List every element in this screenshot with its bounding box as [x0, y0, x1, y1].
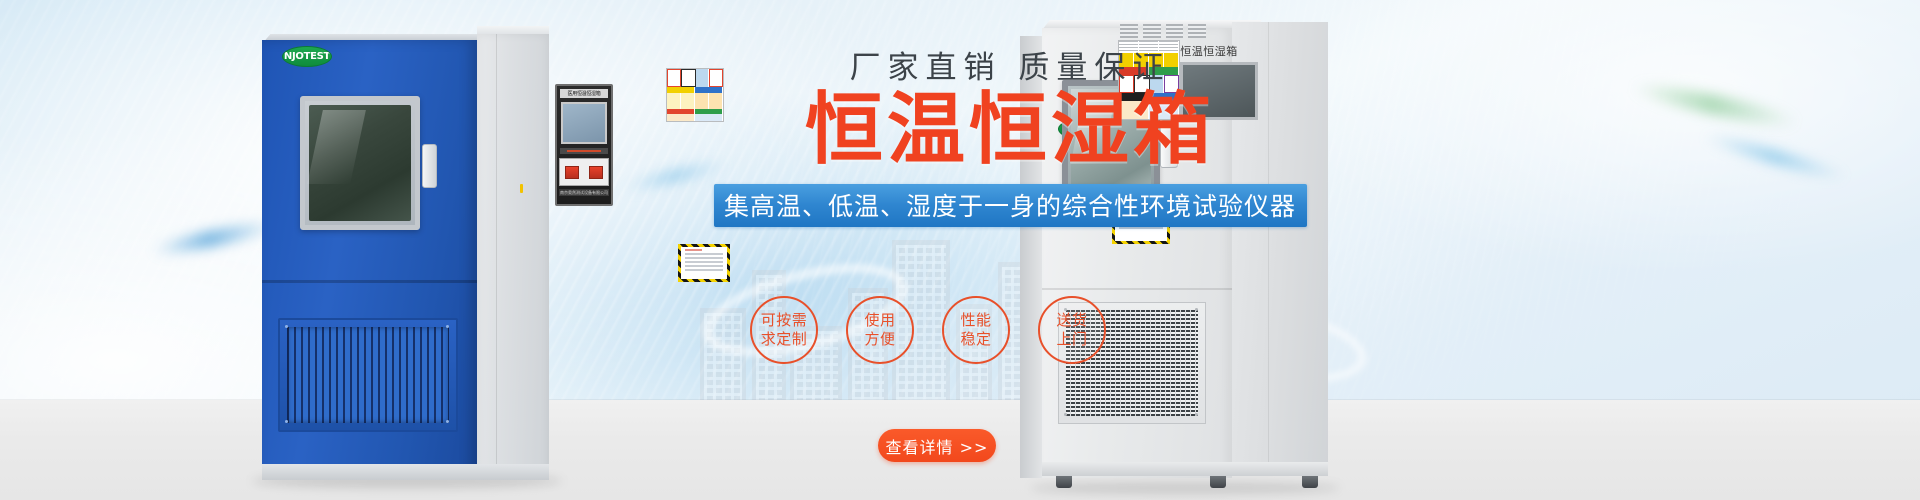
display-strip [560, 148, 608, 154]
leveling-foot [1302, 476, 1318, 488]
control-panel-footer: 南京奥然测试设备有限公司 [559, 189, 609, 196]
badge-line2: 方便 [864, 330, 895, 349]
control-buttons[interactable] [559, 158, 609, 186]
badge-custom: 可按需 求定制 [750, 296, 818, 364]
badge-line2: 上门 [1056, 330, 1087, 349]
door-handle[interactable] [422, 144, 437, 188]
cabinet-base [262, 464, 549, 480]
control-button-power[interactable] [589, 166, 603, 179]
badge-line1: 送货 [1056, 311, 1087, 330]
badge-line1: 可按需 [761, 311, 808, 330]
side-indicator [520, 184, 523, 193]
njotest-logo: NJOTEST [282, 46, 332, 67]
top-vent-slots [1120, 24, 1206, 38]
ventilation-grille [278, 318, 458, 432]
badge-stable-performance: 性能 稳定 [942, 296, 1010, 364]
left-chamber-blue: NJOTEST 医用恒温恒湿箱 南京奥然测试设备有限公司 [262, 34, 572, 480]
page-title: 恒温恒湿箱 [700, 91, 1320, 171]
leveling-foot [1056, 476, 1072, 488]
product-banner: NJOTEST 医用恒温恒湿箱 南京奥然测试设备有限公司 [0, 0, 1920, 500]
window-glass [309, 105, 411, 221]
badge-easy-use: 使用 方便 [846, 296, 914, 364]
leveling-foot [1210, 476, 1226, 488]
subtitle-text: 集高温、低温、湿度于一身的综合性环境试验仪器 [724, 187, 1296, 223]
control-panel-title: 医用恒温恒湿箱 [560, 89, 608, 98]
panel-seam [262, 280, 477, 283]
panel-seam [1042, 288, 1232, 290]
control-panel[interactable]: 医用恒温恒湿箱 南京奥然测试设备有限公司 [555, 84, 613, 206]
chamber-window [300, 96, 420, 230]
eyebrow-text: 厂家直销 质量保证 [700, 42, 1320, 87]
badge-line1: 性能 [960, 311, 991, 330]
control-button-heat[interactable] [565, 166, 579, 179]
copy-block: 厂家直销 质量保证 恒温恒湿箱 集高温、低温、湿度于一身的综合性环境试验仪器 [700, 42, 1320, 227]
cabinet-side-panel [477, 34, 549, 474]
caution-label [678, 244, 730, 282]
badge-delivery: 送货 上门 [1038, 296, 1106, 364]
view-details-button[interactable]: 查看详情 >> [878, 429, 996, 462]
subtitle-bar: 集高温、低温、湿度于一身的综合性环境试验仪器 [714, 184, 1307, 227]
badge-line2: 求定制 [761, 330, 808, 349]
badge-line1: 使用 [864, 311, 895, 330]
badge-line2: 稳定 [960, 330, 991, 349]
control-display[interactable] [561, 102, 607, 144]
cabinet-base [1042, 462, 1328, 476]
panel-seam [496, 34, 497, 474]
feature-badges: 可按需 求定制 使用 方便 性能 稳定 送货 上门 [750, 296, 1106, 364]
floor-shadow [1030, 482, 1340, 494]
